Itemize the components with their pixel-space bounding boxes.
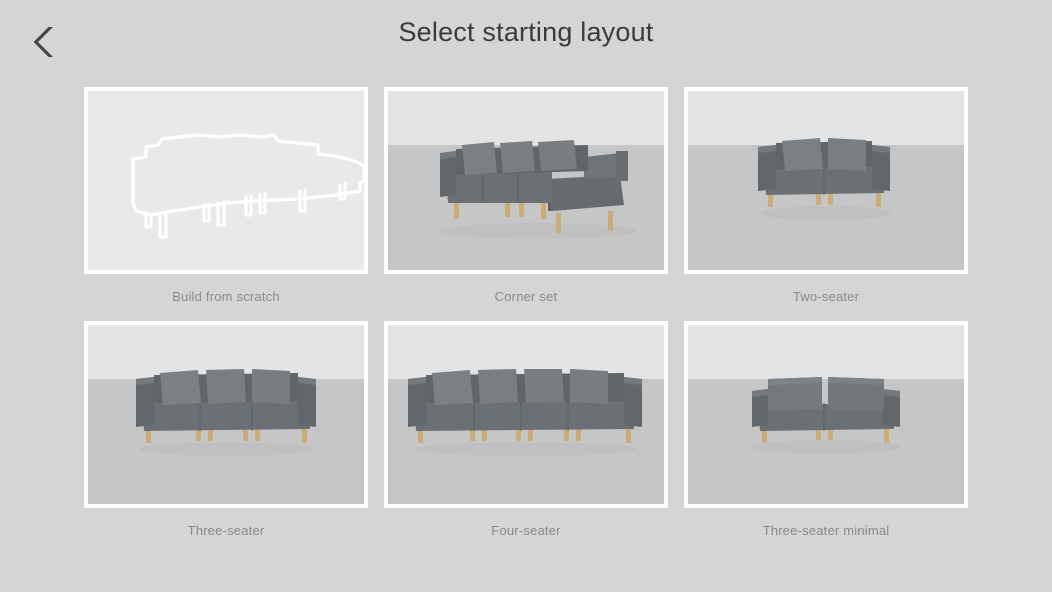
layout-thumbnail[interactable] bbox=[84, 321, 368, 508]
scene-room bbox=[688, 325, 964, 504]
header: Select starting layout bbox=[0, 0, 1052, 78]
layout-thumbnail[interactable] bbox=[684, 87, 968, 274]
layout-card-two-seater[interactable]: Two-seater bbox=[684, 87, 968, 304]
layout-card-four-seater[interactable]: Four-seater bbox=[384, 321, 668, 538]
sofa-four-seater-icon bbox=[388, 325, 664, 504]
layout-thumbnail[interactable] bbox=[684, 321, 968, 508]
sofa-outline-icon bbox=[88, 91, 364, 270]
layout-picker-screen: Select starting layout bbox=[0, 0, 1052, 592]
layout-thumbnail[interactable] bbox=[84, 87, 368, 274]
layout-thumbnail[interactable] bbox=[384, 87, 668, 274]
layout-card-label: Two-seater bbox=[684, 289, 968, 304]
layout-card-corner-set[interactable]: Corner set bbox=[384, 87, 668, 304]
layout-thumbnail[interactable] bbox=[384, 321, 668, 508]
scene-room bbox=[688, 91, 964, 270]
scene-room bbox=[88, 325, 364, 504]
sofa-minimal-icon bbox=[688, 325, 964, 504]
layout-card-three-seater-minimal[interactable]: Three-seater minimal bbox=[684, 321, 968, 538]
layout-card-label: Four-seater bbox=[384, 523, 668, 538]
sofa-corner-set-icon bbox=[388, 91, 664, 270]
layout-card-build-from-scratch[interactable]: Build from scratch bbox=[84, 87, 368, 304]
layout-card-label: Corner set bbox=[384, 289, 668, 304]
layout-grid: Build from scratch bbox=[84, 87, 968, 538]
scene-room bbox=[388, 91, 664, 270]
sofa-three-seater-icon bbox=[88, 325, 364, 504]
layout-card-label: Three-seater minimal bbox=[684, 523, 968, 538]
layout-card-label: Three-seater bbox=[84, 523, 368, 538]
scene-flat bbox=[88, 91, 364, 270]
page-title: Select starting layout bbox=[0, 17, 1052, 48]
scene-room bbox=[388, 325, 664, 504]
layout-card-label: Build from scratch bbox=[84, 289, 368, 304]
sofa-two-seater-icon bbox=[688, 91, 964, 270]
layout-card-three-seater[interactable]: Three-seater bbox=[84, 321, 368, 538]
